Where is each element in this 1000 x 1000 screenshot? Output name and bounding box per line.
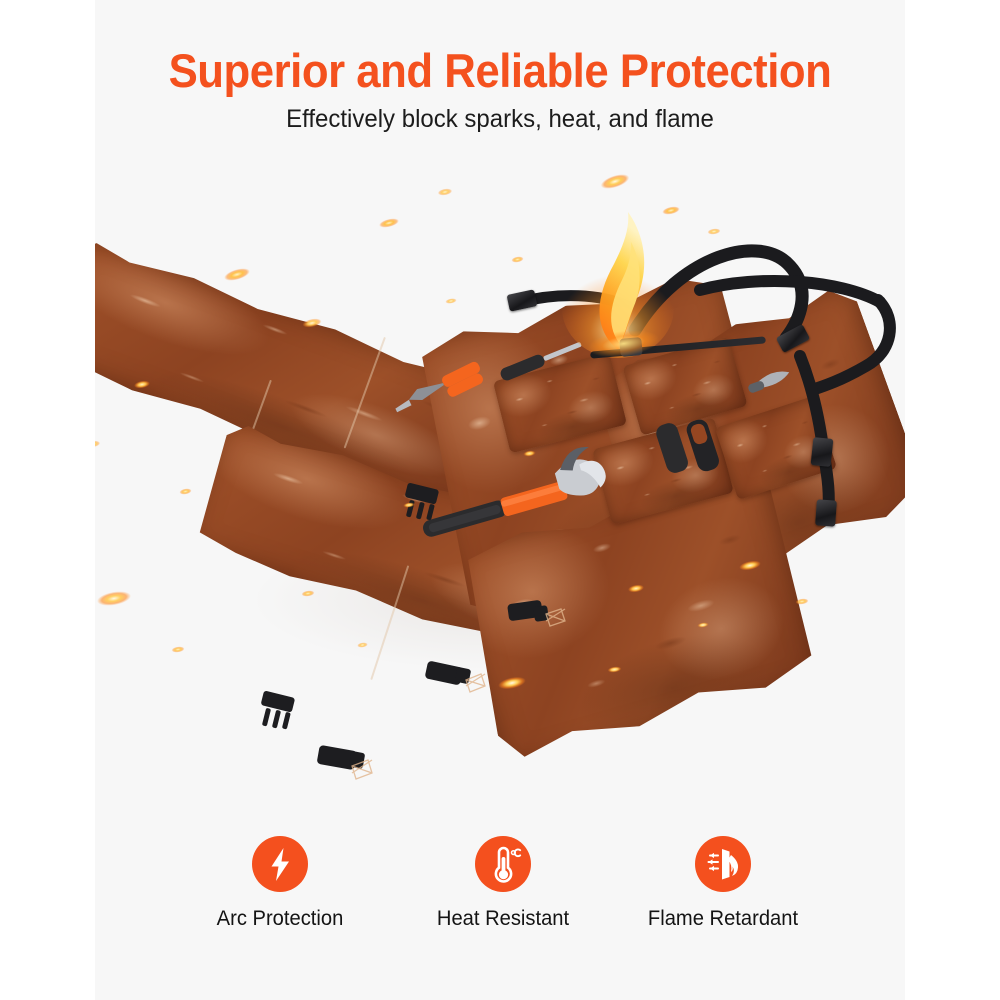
product-feature-poster: Superior and Reliable Protection Effecti… [0, 0, 1000, 1000]
feature-heat-resistant[interactable]: Heat Resistant [383, 836, 623, 932]
lightning-bolt-icon [252, 836, 308, 892]
feature-label: Heat Resistant [388, 906, 618, 932]
feature-label: Arc Protection [165, 906, 395, 932]
thermometer-icon [475, 836, 531, 892]
pliers [392, 360, 487, 422]
feature-label: Flame Retardant [608, 906, 838, 932]
spark [55, 527, 87, 545]
flame-barrier-icon [695, 836, 751, 892]
product-image [0, 170, 1000, 820]
screwdriver-second [654, 412, 721, 483]
feature-row: Arc Protection Heat Resistant [0, 836, 1000, 946]
poster-canvas: Superior and Reliable Protection Effecti… [0, 0, 1000, 1000]
feature-arc-protection[interactable]: Arc Protection [160, 836, 400, 932]
spark [66, 661, 80, 669]
page-subtitle: Effectively block sparks, heat, and flam… [20, 103, 980, 135]
feature-flame-retardant[interactable]: Flame Retardant [603, 836, 843, 932]
page-title: Superior and Reliable Protection [35, 44, 965, 98]
apron-body [0, 170, 1000, 820]
tool-group [0, 170, 1000, 820]
hand-tool [746, 368, 791, 394]
claw-hammer [413, 443, 609, 541]
